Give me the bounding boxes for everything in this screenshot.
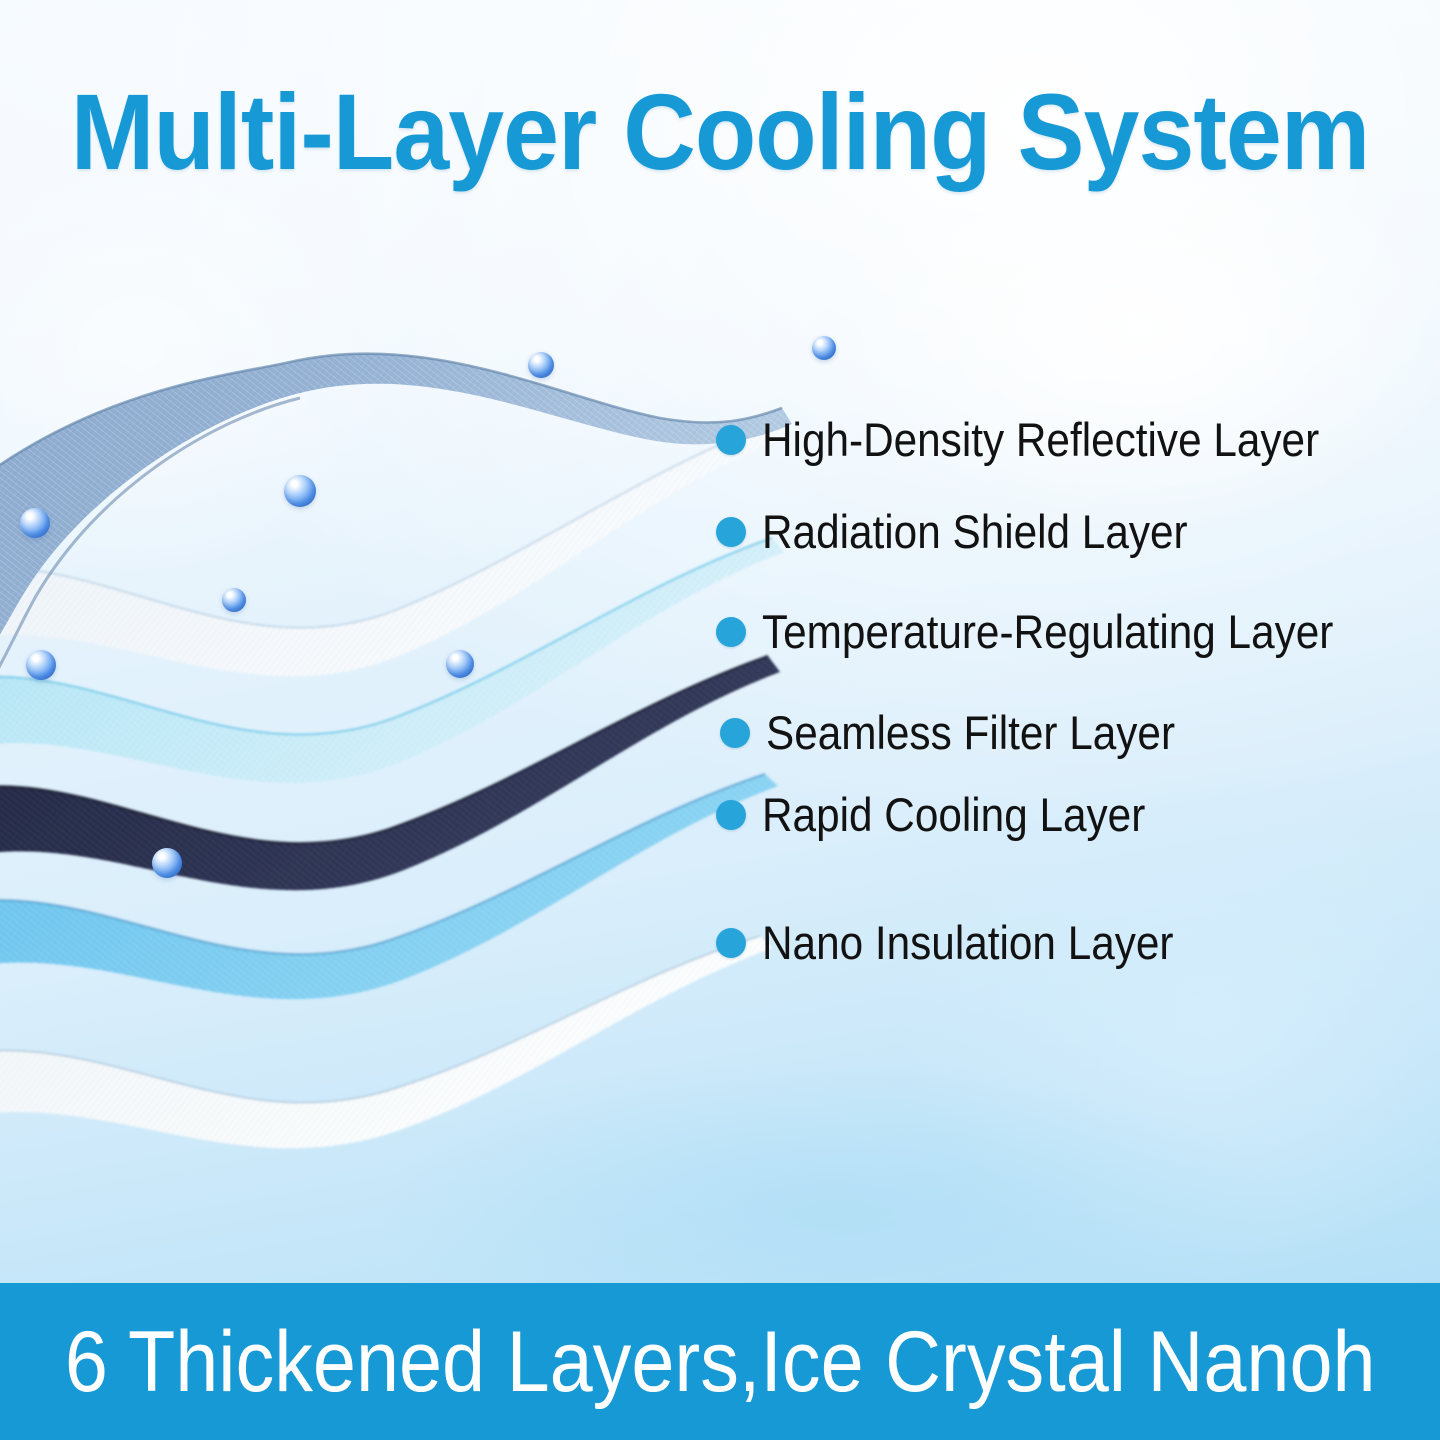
bottom-banner: 6 Thickened Layers,Ice Crystal Nanoh <box>0 1283 1440 1440</box>
banner-text: 6 Thickened Layers,Ice Crystal Nanoh <box>65 1319 1376 1405</box>
water-bubble <box>446 650 474 678</box>
feature-label: Radiation Shield Layer <box>762 508 1188 555</box>
feature-label: Rapid Cooling Layer <box>762 791 1145 838</box>
page-title: Multi-Layer Cooling System <box>50 78 1389 186</box>
bullet-dot-icon <box>716 517 746 547</box>
feature-label: High-Density Reflective Layer <box>762 416 1319 463</box>
bullet-dot-icon <box>716 425 746 455</box>
list-item: Temperature-Regulating Layer <box>716 608 1397 655</box>
fabric-layer-3 <box>0 538 784 783</box>
water-bubble <box>26 650 56 680</box>
water-bubble <box>528 352 554 378</box>
list-item: Seamless Filter Layer <box>720 709 1221 756</box>
feature-label: Temperature-Regulating Layer <box>762 608 1333 655</box>
bullet-dot-icon <box>720 718 750 748</box>
bullet-dot-icon <box>716 800 746 830</box>
fabric-layer-4 <box>0 656 780 890</box>
feature-label: Nano Insulation Layer <box>762 919 1174 966</box>
infographic-poster: Multi-Layer Cooling System <box>0 0 1440 1440</box>
list-item: Radiation Shield Layer <box>716 508 1235 555</box>
list-item: Nano Insulation Layer <box>716 919 1219 966</box>
layered-fabric-illustration <box>0 300 840 1160</box>
feature-label: Seamless Filter Layer <box>766 709 1175 756</box>
water-bubble <box>152 848 182 878</box>
water-bubble <box>284 475 316 507</box>
bullet-dot-icon <box>716 928 746 958</box>
water-bubble <box>812 336 836 360</box>
water-bubble <box>20 508 50 538</box>
water-bubble <box>222 588 246 612</box>
feature-list: High-Density Reflective Layer Radiation … <box>716 380 1440 980</box>
list-item: High-Density Reflective Layer <box>716 416 1381 463</box>
bullet-dot-icon <box>716 617 746 647</box>
list-item: Rapid Cooling Layer <box>716 791 1188 838</box>
